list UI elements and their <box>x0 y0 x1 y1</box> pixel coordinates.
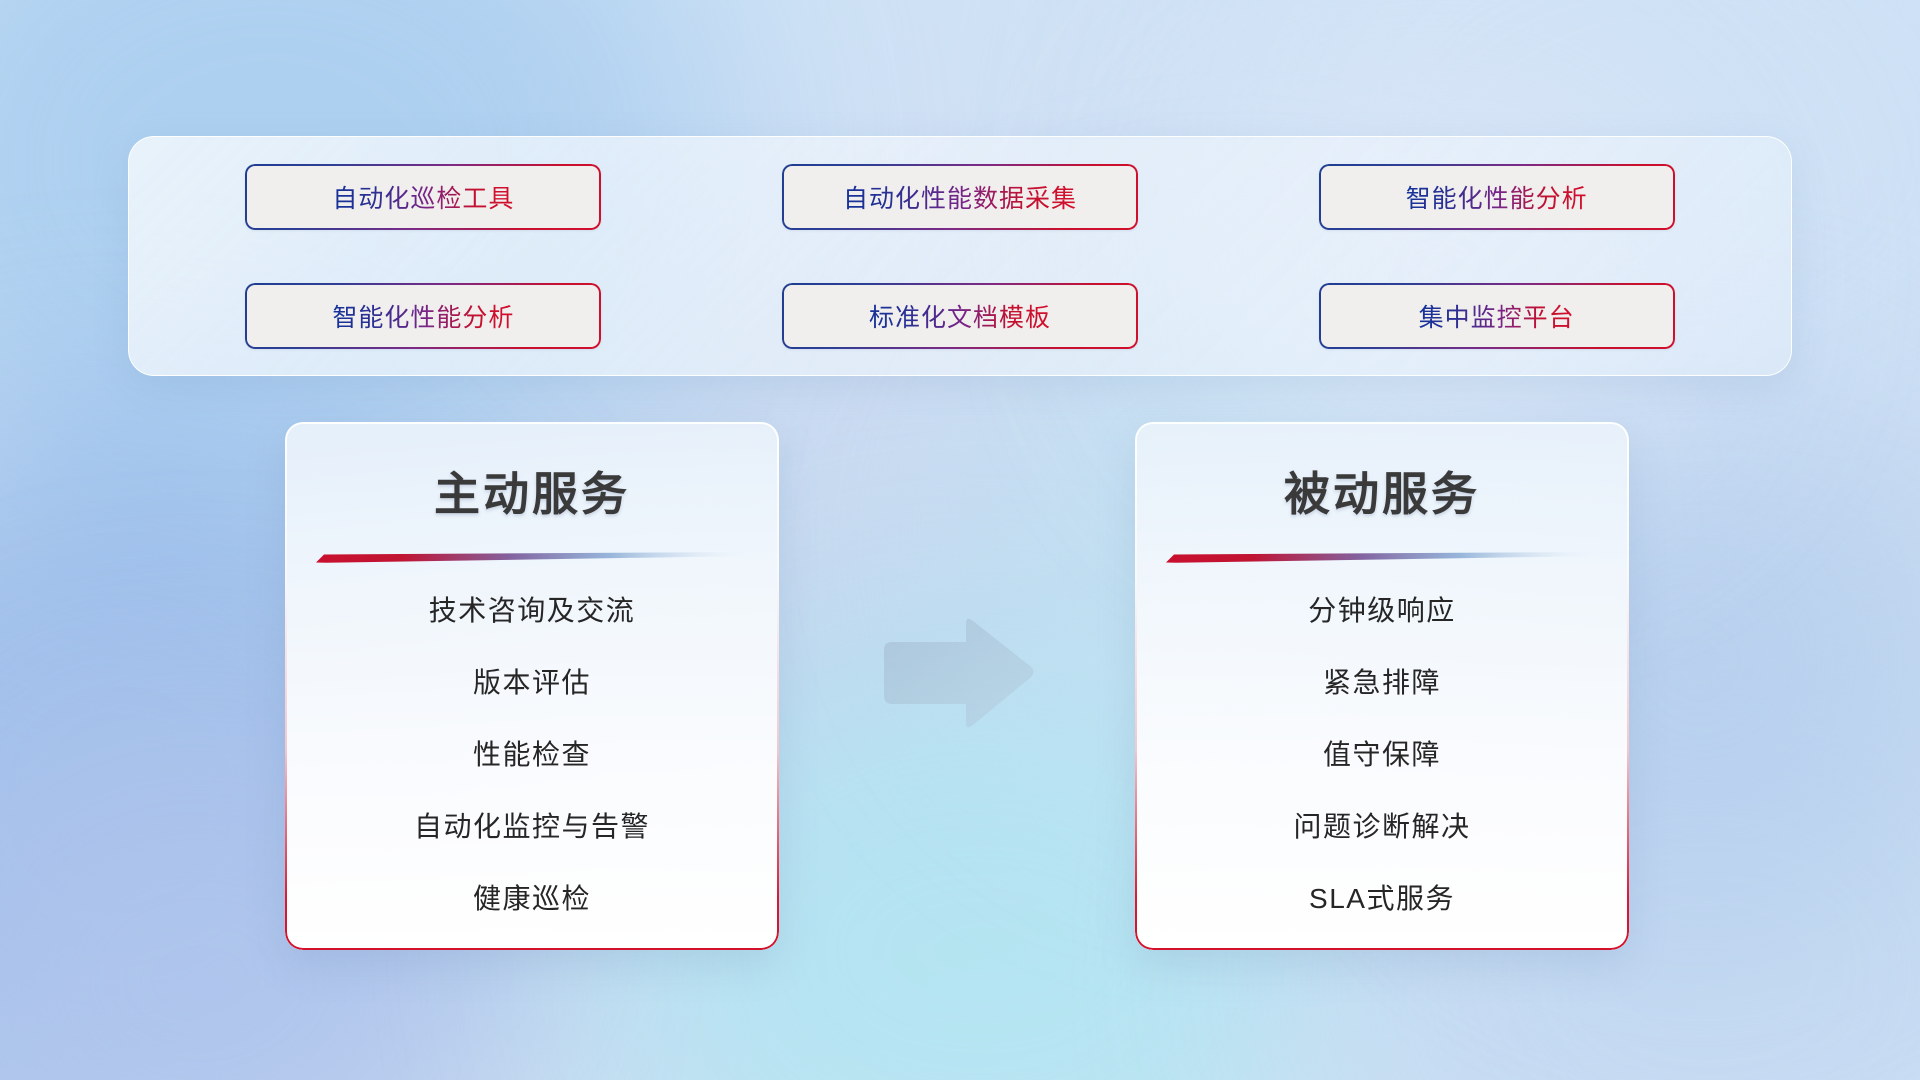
arrow-right-icon <box>878 614 1038 732</box>
capability-tag-label: 智能化性能分析 <box>1406 179 1588 215</box>
capability-tag[interactable]: 自动化巡检工具 <box>245 164 601 230</box>
capability-tag[interactable]: 标准化文档模板 <box>782 283 1138 349</box>
service-list-item: 值守保障 <box>1135 741 1629 769</box>
service-list-item: 性能检查 <box>285 741 779 769</box>
service-item-list: 技术咨询及交流 版本评估 性能检查 自动化监控与告警 健康巡检 <box>285 563 779 913</box>
capability-tag[interactable]: 智能化性能分析 <box>245 283 601 349</box>
service-card-passive: 被动服务 分钟级响应 紧急排障 值守保障 问题诊断解决 SLA式服务 <box>1135 422 1629 950</box>
capability-tags-panel: 自动化巡检工具 自动化性能数据采集 智能化性能分析 智能化性能分析 标准化文档模… <box>128 136 1792 376</box>
capability-tag-label: 自动化巡检工具 <box>332 179 514 215</box>
capability-tag-label: 标准化文档模板 <box>869 298 1051 334</box>
service-card-title: 被动服务 <box>1135 458 1629 524</box>
service-card-title: 主动服务 <box>285 458 779 524</box>
title-divider <box>316 550 748 563</box>
capability-tag[interactable]: 集中监控平台 <box>1319 283 1675 349</box>
service-card-active: 主动服务 技术咨询及交流 版本评估 性能检查 自动化监控与告警 健康巡检 <box>285 422 779 950</box>
service-list-item: 版本评估 <box>285 669 779 697</box>
capability-tag[interactable]: 智能化性能分析 <box>1319 164 1675 230</box>
service-item-list: 分钟级响应 紧急排障 值守保障 问题诊断解决 SLA式服务 <box>1135 563 1629 913</box>
capability-tag[interactable]: 自动化性能数据采集 <box>782 164 1138 230</box>
service-list-item: SLA式服务 <box>1135 885 1629 913</box>
capability-tag-label: 智能化性能分析 <box>332 298 514 334</box>
service-list-item: 技术咨询及交流 <box>285 597 779 625</box>
service-list-item: 分钟级响应 <box>1135 597 1629 625</box>
capability-tag-label: 集中监控平台 <box>1419 298 1575 334</box>
title-divider <box>1166 550 1598 563</box>
service-list-item: 自动化监控与告警 <box>285 813 779 841</box>
service-list-item: 健康巡检 <box>285 885 779 913</box>
capability-tag-label: 自动化性能数据采集 <box>843 179 1077 215</box>
service-list-item: 紧急排障 <box>1135 669 1629 697</box>
service-list-item: 问题诊断解决 <box>1135 813 1629 841</box>
